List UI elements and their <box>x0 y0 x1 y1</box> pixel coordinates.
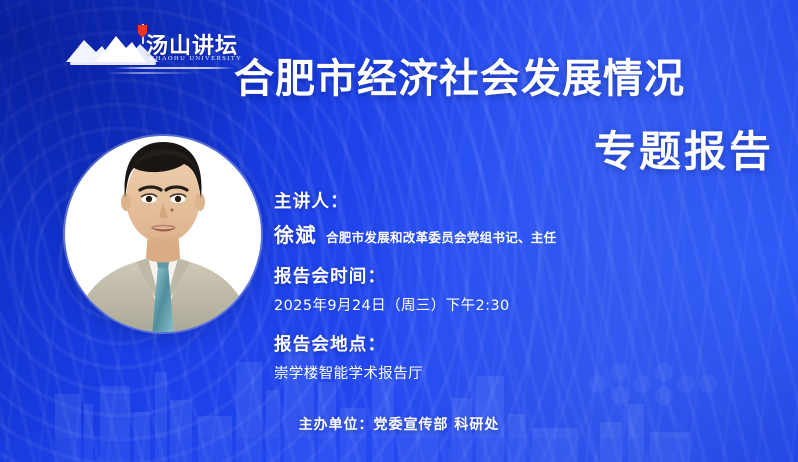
place-label: 报告会地点： <box>274 331 694 356</box>
logo-name-en: CHAOHU UNIVERSITY <box>150 55 242 62</box>
time-value: 2025年9月24日（周三）下午2:30 <box>274 294 694 315</box>
info-block: 主讲人： 徐斌 合肥市发展和改革委员会党组书记、主任 报告会时间： 2025年9… <box>274 188 694 399</box>
logo-underline-second <box>106 72 198 74</box>
headline-line-1: 合肥市经济社会发展情况 <box>234 58 774 101</box>
speaker-portrait <box>62 112 264 336</box>
logo: 汤山讲坛 CHAOHU UNIVERSITY <box>62 22 234 78</box>
logo-underline <box>114 67 234 69</box>
headline-line-2: 专题报告 <box>234 129 774 174</box>
poster-canvas: 汤山讲坛 CHAOHU UNIVERSITY 合肥市经济社会发展情况 专题报告 <box>0 0 798 462</box>
speaker-row: 徐斌 合肥市发展和改革委员会党组书记、主任 <box>274 219 694 248</box>
speaker-name: 徐斌 <box>274 219 317 248</box>
speaker-label: 主讲人： <box>274 188 694 213</box>
organizer-footer: 主办单位：党委宣传部 科研处 <box>0 414 798 434</box>
place-value: 崇学楼智能学术报告厅 <box>274 362 694 383</box>
speaker-title: 合肥市发展和改革委员会党组书记、主任 <box>326 227 556 246</box>
headline: 合肥市经济社会发展情况 专题报告 <box>234 58 774 175</box>
time-label: 报告会时间： <box>274 263 694 288</box>
